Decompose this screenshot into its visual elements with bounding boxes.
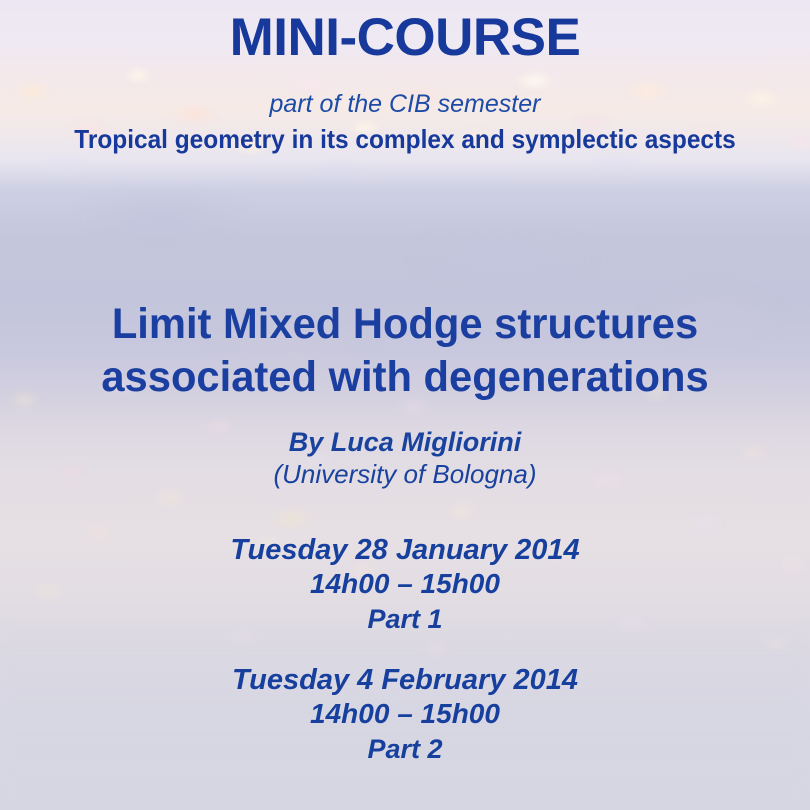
semester-note: part of the CIB semester — [0, 91, 810, 119]
speaker-affiliation: (University of Bologna) — [0, 460, 810, 489]
seminar-poster: MINI-COURSE part of the CIB semester Tro… — [0, 0, 810, 810]
session-2-part: Part 2 — [0, 735, 810, 764]
page-title-line-2: associated with degenerations — [12, 351, 798, 404]
session-block-2: Tuesday 4 February 2014 14h00 – 15h00 Pa… — [0, 665, 810, 764]
speaker-name: By Luca Migliorini — [0, 428, 810, 458]
course-type-label: MINI-COURSE — [0, 11, 810, 64]
session-1-date: Tuesday 28 January 2014 — [0, 535, 810, 566]
semester-title: Tropical geometry in its complex and sym… — [24, 125, 785, 154]
session-1-time: 14h00 – 15h00 — [0, 569, 810, 599]
session-2-time: 14h00 – 15h00 — [0, 699, 810, 729]
session-2-date: Tuesday 4 February 2014 — [0, 665, 810, 696]
page-title-line-1: Limit Mixed Hodge structures — [12, 298, 798, 351]
page-title: Limit Mixed Hodge structures associated … — [12, 298, 798, 405]
poster-content: MINI-COURSE part of the CIB semester Tro… — [0, 0, 810, 810]
session-block-1: Tuesday 28 January 2014 14h00 – 15h00 Pa… — [0, 535, 810, 634]
session-1-part: Part 1 — [0, 605, 810, 634]
